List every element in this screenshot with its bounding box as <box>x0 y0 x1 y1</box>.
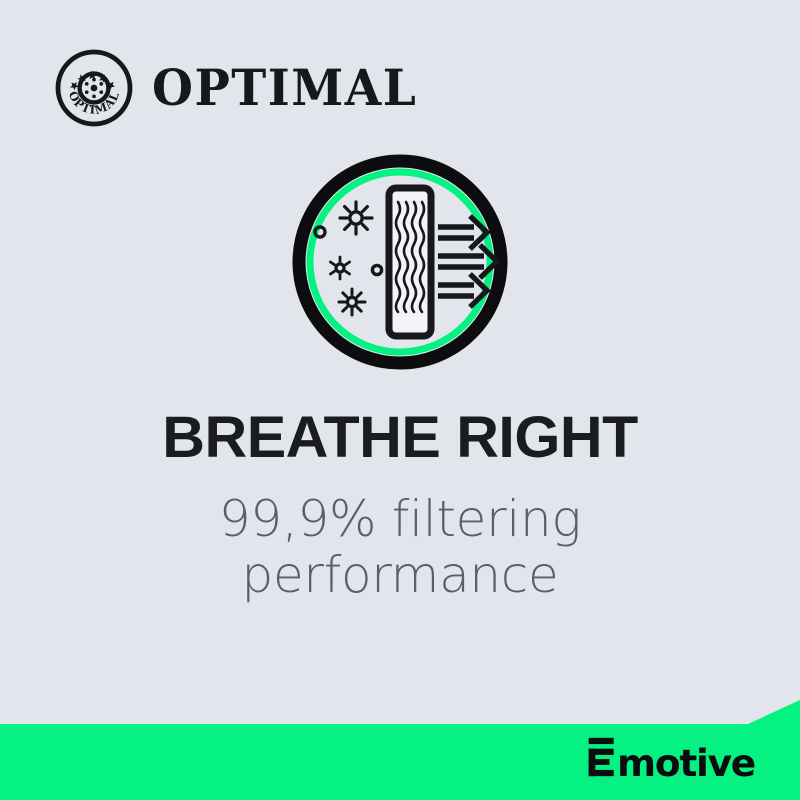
emotive-logo-text: motive <box>617 741 755 777</box>
subheadline-line-1: 99,9% filtering <box>219 490 581 548</box>
optimal-seal-icon: OPTIMAL <box>54 48 134 128</box>
seal-text: OPTIMAL <box>66 89 123 117</box>
message-block: BREATHE RIGHT 99,9% filtering performanc… <box>0 408 800 603</box>
page-title: BREATHE RIGHT <box>0 408 800 469</box>
filter-membrane-icon <box>389 188 431 336</box>
brand-header: OPTIMAL OPTIMAL <box>54 48 417 128</box>
svg-text:OPTIMAL: OPTIMAL <box>66 89 123 117</box>
subheadline: 99,9% filtering performance <box>0 491 800 603</box>
subheadline-line-2: performance <box>242 546 559 604</box>
brand-wordmark: OPTIMAL <box>152 63 417 113</box>
air-filter-icon <box>288 150 512 374</box>
emotive-logo: motive <box>587 737 762 777</box>
